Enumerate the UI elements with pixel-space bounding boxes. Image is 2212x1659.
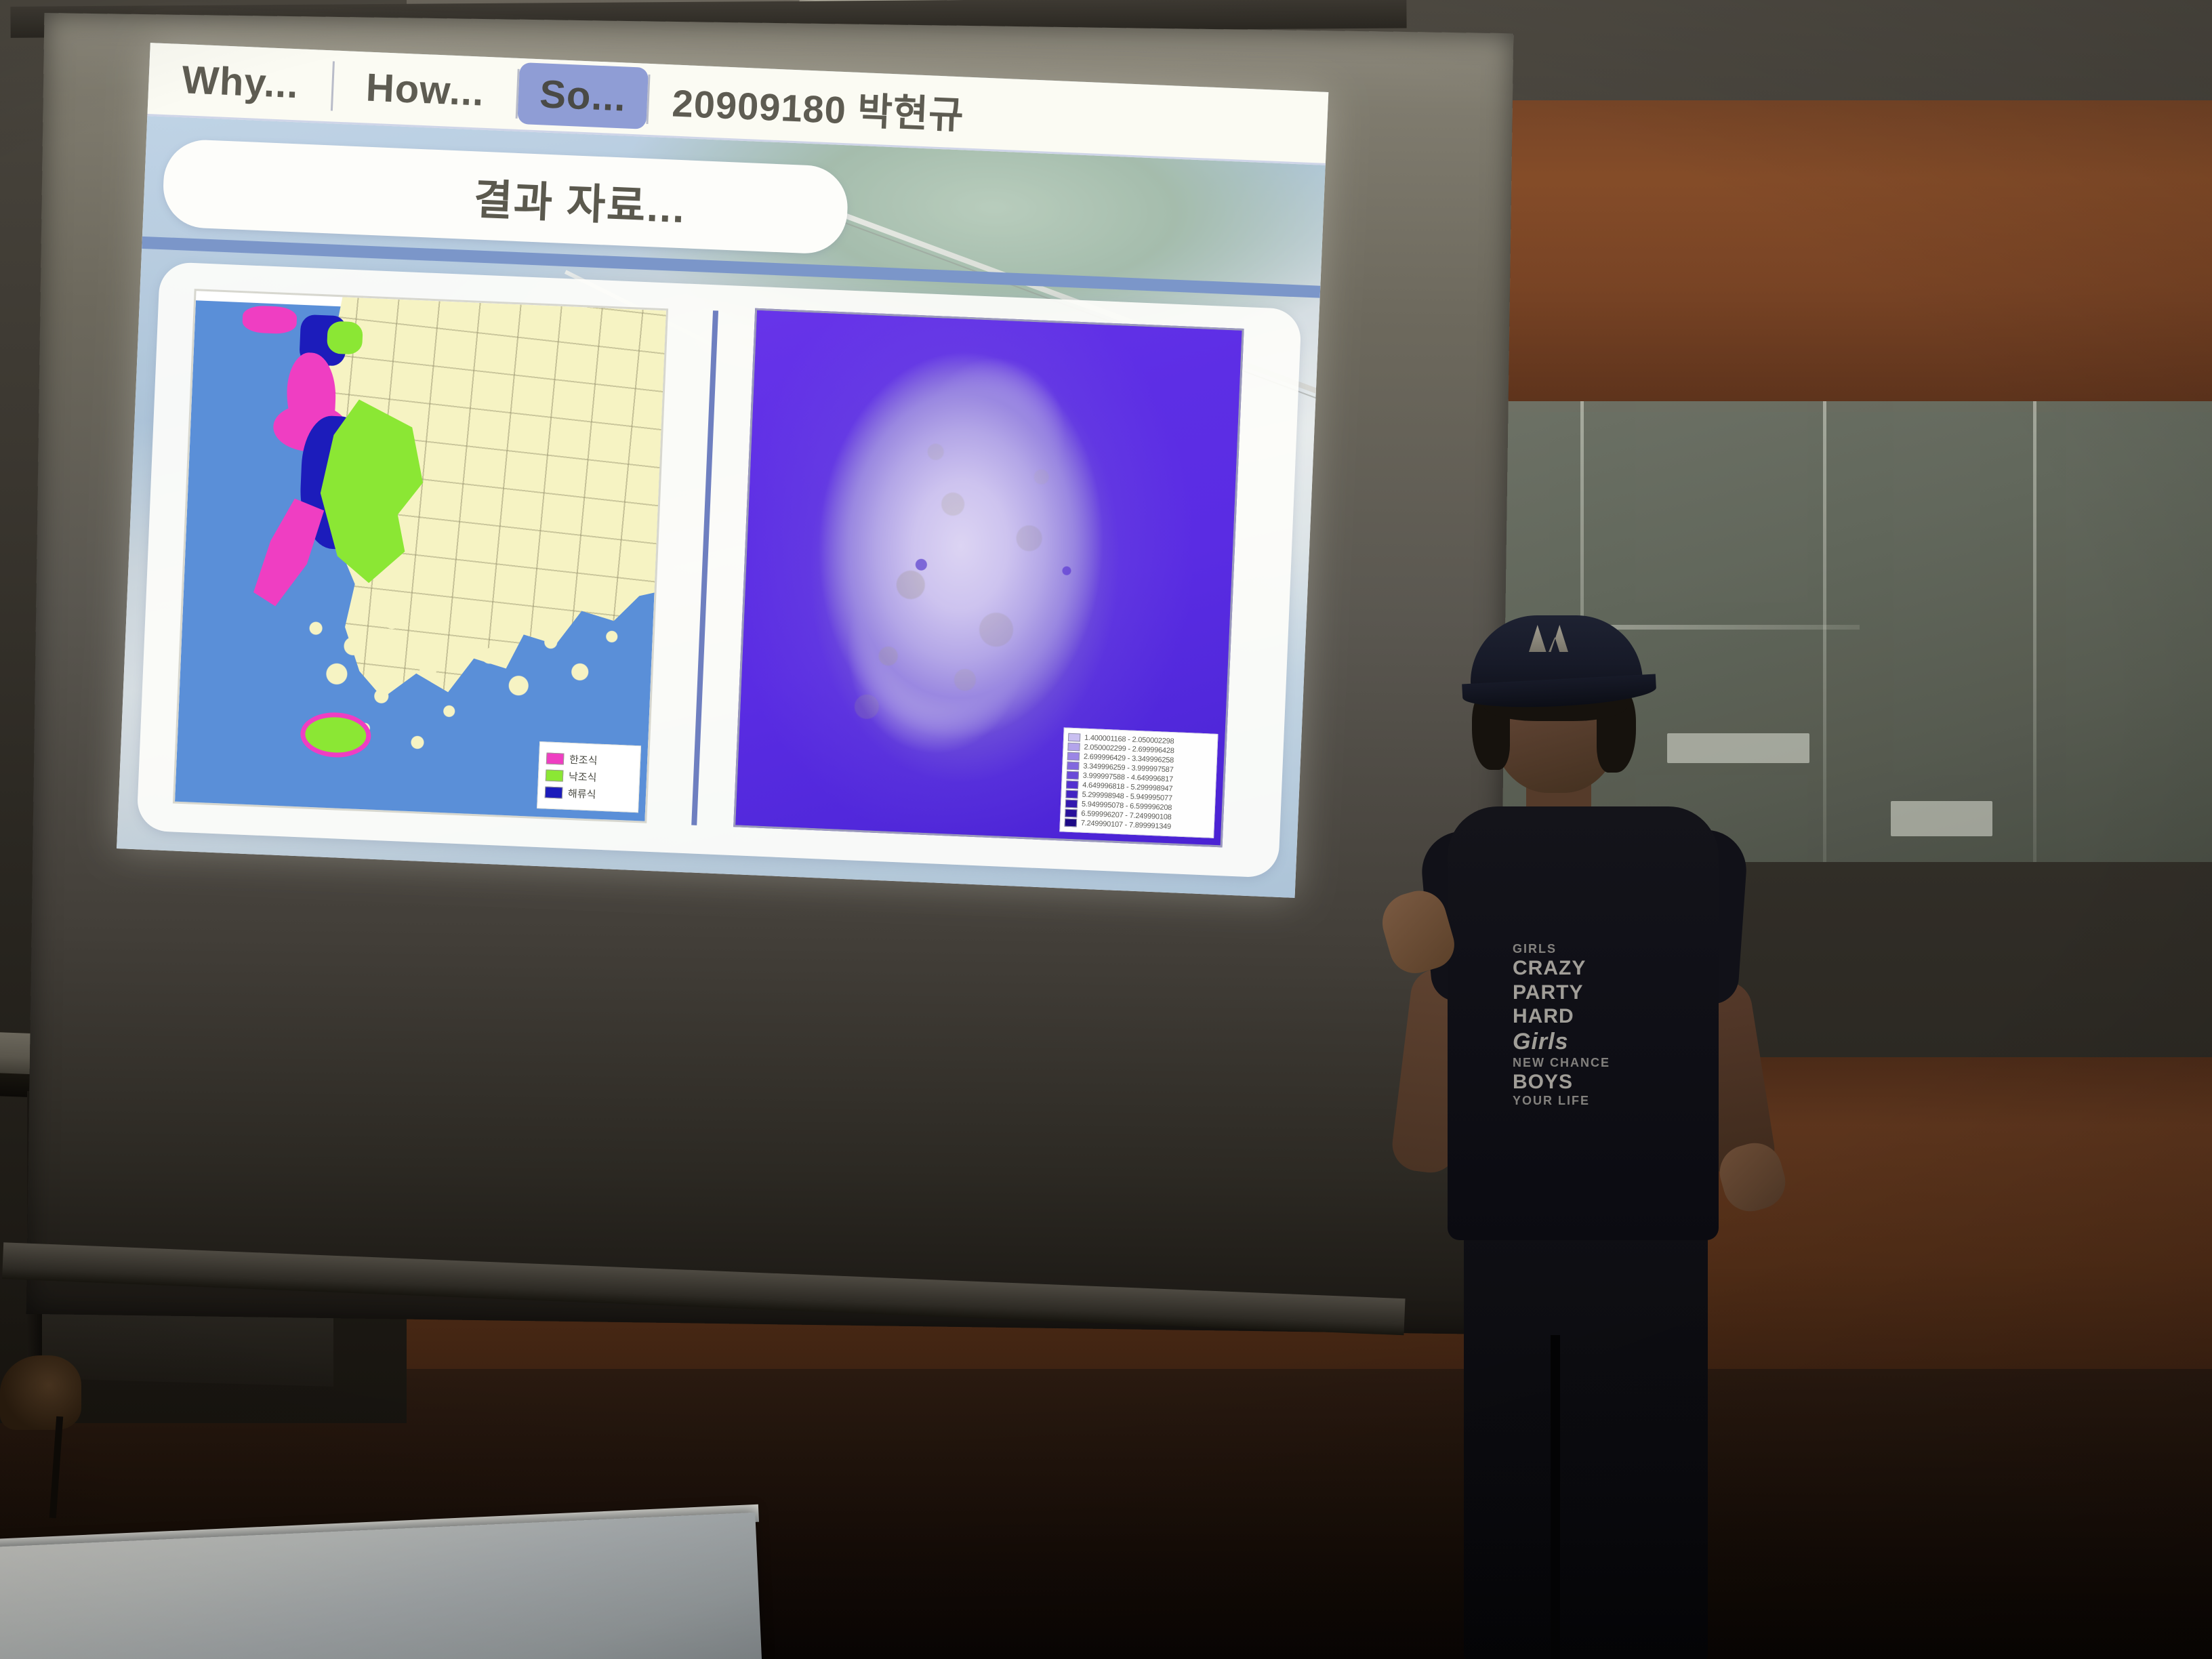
tab-why-label: Why... — [181, 57, 300, 107]
legend-swatch-bin-7 — [1065, 790, 1078, 799]
legend-swatch-bin-6 — [1066, 781, 1078, 790]
shirt-text-crazy: CRAZY — [1513, 956, 1668, 980]
legend-label: 해류식 — [568, 786, 596, 802]
shirt-text-hard: HARD — [1513, 1004, 1668, 1028]
shirt-text-girls: GIRLS — [1513, 942, 1668, 956]
presenter-legs — [1464, 1227, 1708, 1659]
panel-divider — [691, 310, 718, 825]
legend-swatch-bin-8 — [1065, 800, 1078, 808]
legend-swatch-bin-10 — [1065, 819, 1077, 827]
legend-swatch-bin-4 — [1067, 762, 1079, 771]
slide-content-card: 한조식 낙조식 해류식 — [136, 262, 1302, 878]
tshirt-graphic-print: GIRLS CRAZY PARTY HARD Girls NEW CHANCE … — [1513, 942, 1668, 1200]
map-classification-legend: 한조식 낙조식 해류식 — [537, 741, 641, 813]
shirt-text-boys: BOYS — [1513, 1070, 1668, 1094]
zone-green-north — [327, 321, 363, 354]
legend-item: 낙조식 — [546, 768, 633, 785]
presenter-leg-gap — [1551, 1335, 1560, 1659]
legend-label: 한조식 — [569, 752, 598, 768]
map-classification[interactable]: 한조식 낙조식 해류식 — [173, 289, 668, 823]
classroom-scene: Why... How... So... 20909180 박현규 결과 자료..… — [0, 0, 2212, 1659]
legend-swatch-bin-1 — [1068, 733, 1080, 742]
chair-backrest — [0, 1355, 81, 1430]
legend-label: 낙조식 — [569, 769, 597, 785]
legend-swatch-green — [546, 769, 564, 781]
tab-how-label: How... — [365, 64, 485, 115]
slide-section-title-label: 결과 자료... — [472, 165, 687, 234]
shirt-text-girls2: Girls — [1513, 1028, 1668, 1055]
projection-screen: Why... How... So... 20909180 박현규 결과 자료..… — [26, 13, 1514, 1334]
tab-so-label: So... — [539, 71, 627, 120]
presenter-person: GIRLS CRAZY PARTY HARD Girls NEW CHANCE … — [1369, 562, 1816, 1659]
heatmap-legend: 1.400001168 - 2.050002298 2.050002299 - … — [1059, 727, 1218, 838]
tab-how[interactable]: How... — [332, 51, 518, 129]
tab-so[interactable]: So... — [517, 62, 649, 129]
shirt-text-party: PARTY — [1513, 981, 1668, 1004]
legend-item: 한조식 — [546, 751, 634, 769]
shirt-text-yourlife: YOUR LIFE — [1513, 1094, 1668, 1108]
projected-slide[interactable]: Why... How... So... 20909180 박현규 결과 자료..… — [117, 43, 1328, 898]
legend-swatch-bin-3 — [1067, 752, 1080, 761]
shirt-text-chance: NEW CHANCE — [1513, 1056, 1668, 1070]
legend-swatch-bin-5 — [1067, 771, 1079, 780]
legend-swatch-magenta — [546, 752, 565, 764]
legend-swatch-bin-9 — [1065, 809, 1077, 818]
legend-item: 해류식 — [545, 785, 632, 802]
legend-swatch-navy — [545, 786, 563, 798]
tab-why[interactable]: Why... — [147, 43, 333, 121]
legend-swatch-bin-2 — [1067, 743, 1080, 752]
zone-magenta-north — [242, 305, 298, 334]
map-heatmap[interactable]: 1.400001168 - 2.050002298 2.050002299 - … — [733, 308, 1244, 848]
